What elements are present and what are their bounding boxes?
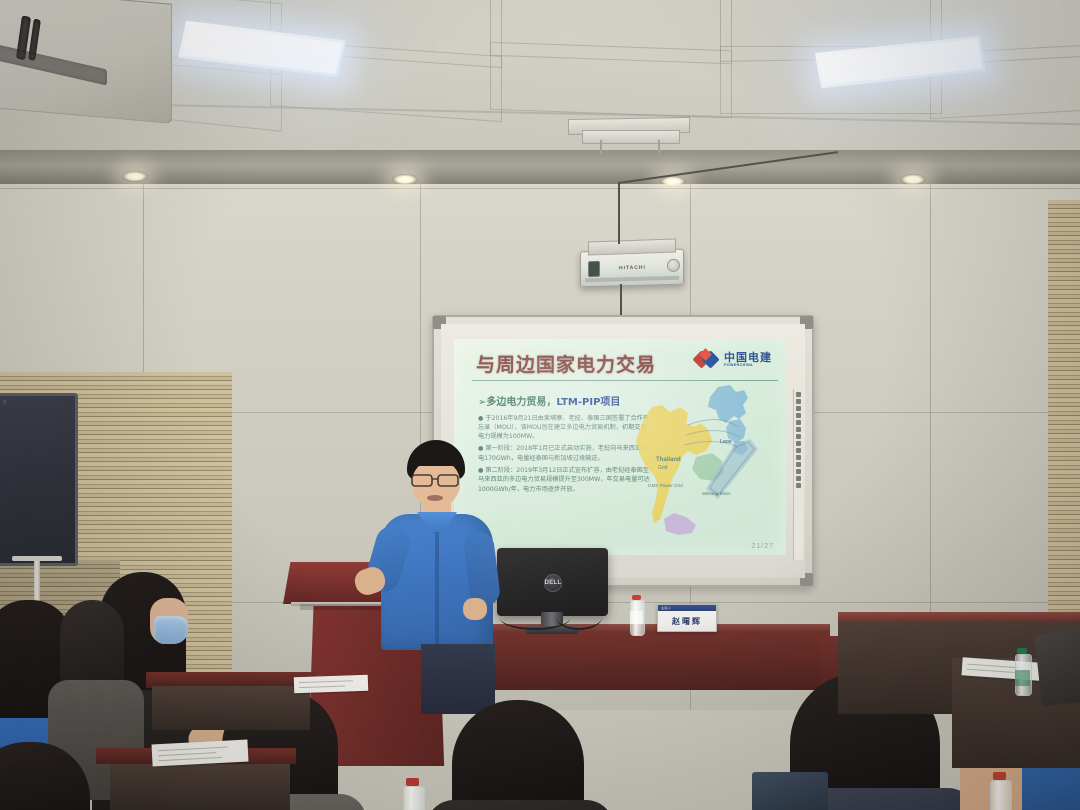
- dell-logo-icon: DELL: [544, 574, 562, 592]
- toolbar-icon-redo[interactable]: [796, 434, 801, 439]
- speaker-right-hand: [463, 598, 487, 620]
- audience-desk-mid-left-body: [152, 686, 310, 730]
- projected-slide: 与周边国家电力交易 中国电建 POWERCHINA ➢多边电力贸易，LTM-PI…: [454, 339, 786, 555]
- bottle-cap-4: [406, 778, 419, 786]
- monitor-cable-2: [556, 604, 602, 630]
- slide-lead-emphasis: LTM-PIP项目: [556, 397, 620, 408]
- toolbar-icon-power[interactable]: [796, 462, 801, 467]
- audience-desk-right-edge: [838, 612, 1080, 621]
- paper-stack-mid: [294, 675, 369, 694]
- projector-rod-right: [658, 140, 660, 154]
- southeast-asia-map-icon: Thailand Grid Laos GMS Power Grid Mekong…: [626, 383, 776, 535]
- toolbar-icon-undo[interactable]: [796, 427, 801, 432]
- map-label-grid: Grid: [658, 465, 668, 471]
- bottle-label-2: [1015, 670, 1030, 686]
- bottle-label: [630, 611, 643, 624]
- audience-laptop: [1034, 630, 1080, 706]
- toolbar-icon-settings[interactable]: [796, 455, 801, 460]
- slide-title: 与周边国家电力交易: [476, 350, 656, 377]
- slide-body: ➢多边电力贸易，LTM-PIP项目 ● 于2016年9月21日由柬埔寨、老挝、泰…: [478, 397, 650, 497]
- audience-face-mask: [154, 616, 188, 644]
- slide-bullet-3: ● 第二阶段：2019年3月12日正式宣布扩容，由老挝经泰国至马来西亚的多边电力…: [478, 466, 650, 494]
- map-label-gms: GMS Power Grid: [648, 483, 683, 488]
- audience-torso-5: [426, 800, 614, 810]
- projector-cable-vertical: [618, 182, 620, 244]
- display-stand-foot: [12, 556, 62, 561]
- toolbar-icon-shape[interactable]: [796, 413, 801, 418]
- projector-cable-drop: [620, 284, 622, 316]
- slide-bullet-2: ● 第一阶段：2018年1月已正式启动实施，老挝向马来西亚送电170GWh，电量…: [478, 444, 650, 463]
- downlight-2: [392, 174, 418, 185]
- map-label-mekong: Mekong River: [702, 491, 731, 496]
- slide-page-number: 21/27: [751, 543, 774, 550]
- toolbar-icon-home[interactable]: [796, 476, 801, 481]
- toolbar-icon-page[interactable]: [796, 469, 801, 474]
- speaker-mouth: [427, 495, 443, 501]
- toolbar-icon-keyboard[interactable]: [796, 448, 801, 453]
- slide-title-rule: [472, 380, 778, 381]
- display-brand-logo: ◻: [3, 399, 7, 404]
- slide-lead-text: ➢多边电力贸易，LTM-PIP项目: [478, 397, 650, 410]
- toolbar-icon-help[interactable]: [796, 483, 801, 488]
- toolbar-icon-highlighter[interactable]: [796, 420, 801, 425]
- speaker-glasses-icon: [410, 473, 464, 487]
- toolbar-icon-pen[interactable]: [796, 392, 801, 397]
- speaker-shirt-placket: [435, 532, 439, 644]
- whiteboard-toolbar[interactable]: [793, 389, 803, 560]
- speaker-hair-front: [409, 446, 463, 466]
- slide-bullet-1: ● 于2016年9月21日由柬埔寨、老挝、泰国三国签署了合作备忘录（MOU），该…: [478, 414, 650, 442]
- nameplate-header-text: 主讲人: [661, 606, 671, 610]
- wood-slat-panel-right: [1048, 200, 1080, 670]
- toolbar-icon-select[interactable]: [796, 406, 801, 411]
- toolbar-icon-eraser[interactable]: [796, 399, 801, 404]
- bottle-body-3: [990, 780, 1012, 810]
- bottle-body-4: [403, 786, 425, 810]
- lecture-hall-photo: ◻ HITACHI: [0, 0, 1080, 810]
- speaker-trousers: [421, 644, 495, 714]
- projector-rod-left: [600, 140, 602, 154]
- projector-mount-plate-2: [582, 130, 680, 144]
- map-label-thailand: Thailand: [656, 457, 681, 463]
- powerchina-mark-icon: [695, 349, 720, 371]
- speaker-nameplate: 主讲人 赵曙辉: [657, 604, 717, 632]
- ceiling: [0, 0, 1080, 175]
- brand-name-en: POWERCHINA: [724, 364, 772, 368]
- projector-brand-label: HITACHI: [619, 265, 646, 272]
- map-label-laos: Laos: [720, 439, 732, 445]
- air-conditioner-vent: [0, 0, 172, 124]
- nameplate-name: 赵曙辉: [658, 611, 716, 631]
- powerchina-logo: 中国电建 POWERCHINA: [695, 349, 772, 371]
- projector-lens: [588, 261, 600, 277]
- downlight-3: [660, 176, 686, 187]
- downlight-4: [900, 174, 926, 185]
- audience-hair-3: [60, 600, 124, 692]
- slide-map-graphic: Thailand Grid Laos GMS Power Grid Mekong…: [626, 383, 776, 535]
- audience-laptop-2: [752, 772, 828, 810]
- front-presenter-table: [444, 628, 830, 690]
- downlight-1: [122, 171, 148, 182]
- audience-hair-5: [452, 700, 584, 810]
- bottle-cap-3: [993, 772, 1006, 780]
- wall-display-left: ◻: [0, 393, 78, 566]
- toolbar-icon-save[interactable]: [796, 441, 801, 446]
- brand-name-cn: 中国电建: [724, 352, 772, 363]
- audience-desk-left: [110, 760, 290, 810]
